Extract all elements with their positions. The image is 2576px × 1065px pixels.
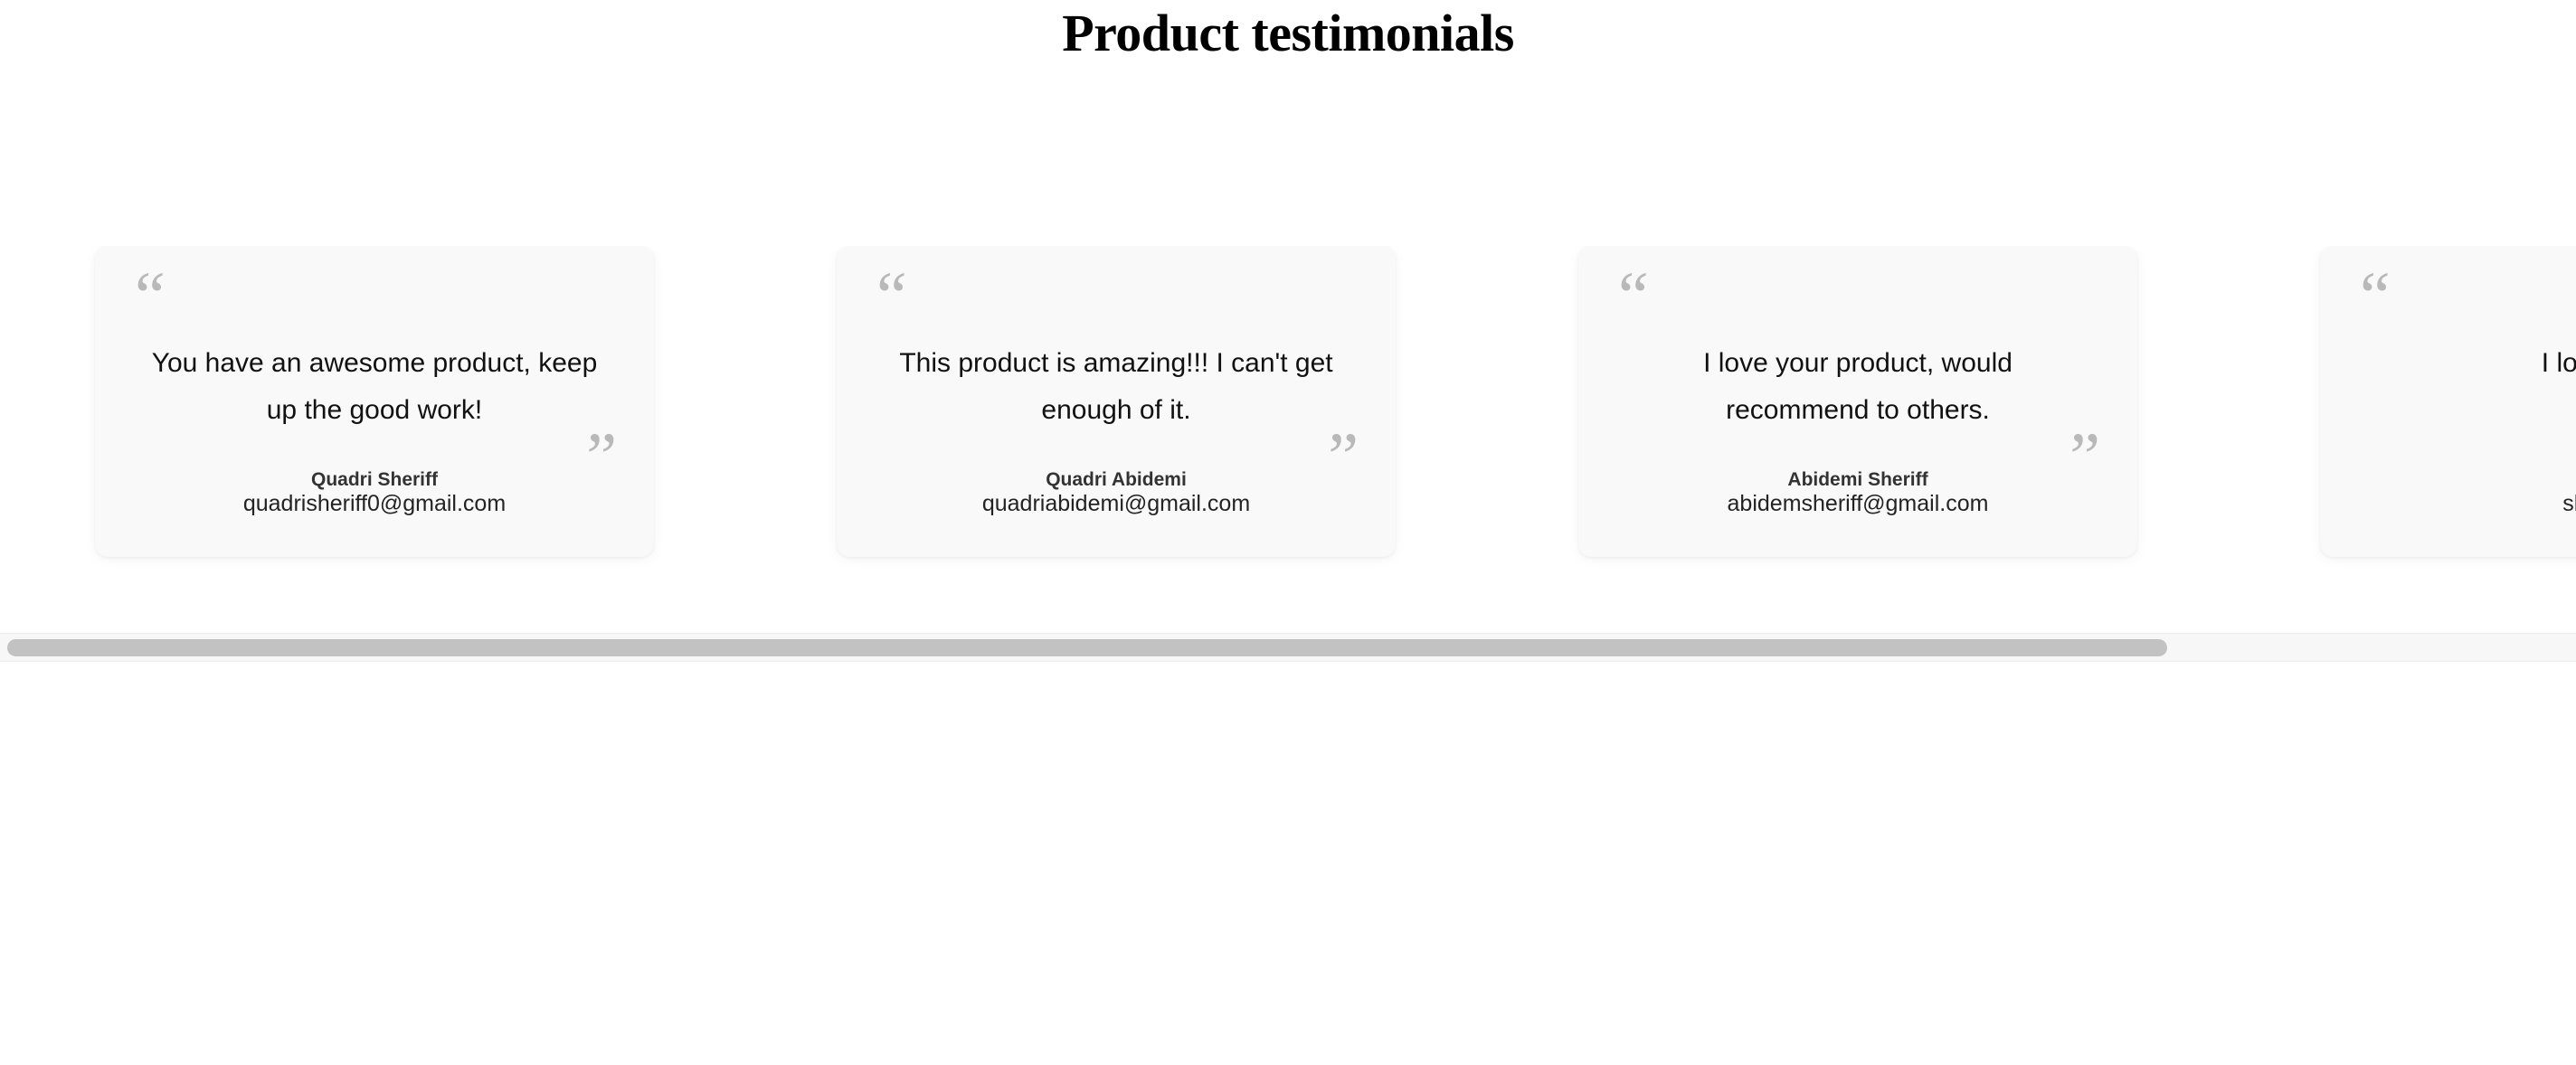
quote-close-icon: ” <box>586 423 618 492</box>
author-name: Sh <box>2358 468 2576 491</box>
testimonial-author: Sh sheriffo <box>2358 468 2576 533</box>
testimonials-carousel[interactable]: “ ” You have an awesome product, keep up… <box>0 246 2576 633</box>
page-title: Product testimonials <box>0 0 2576 56</box>
testimonial-card[interactable]: “ ” This product is amazing!!! I can't g… <box>837 246 1396 557</box>
author-email: abidemsheriff@gmail.com <box>1616 491 2099 517</box>
testimonial-quote: This product is amazing!!! I can't get e… <box>875 340 1358 434</box>
author-name: Quadri Abidemi <box>875 468 1358 491</box>
testimonial-card[interactable]: “ ” I love your product, would recommend… <box>1578 246 2137 557</box>
author-name: Abidemi Sheriff <box>1616 468 2099 491</box>
testimonial-author: Quadri Sheriff quadrisheriff0@gmail.com <box>133 468 616 533</box>
page-empty-area <box>0 663 2576 1065</box>
testimonials-track: “ ” You have an awesome product, keep up… <box>0 246 2576 557</box>
author-email: quadriabidemi@gmail.com <box>875 491 1358 517</box>
author-name: Quadri Sheriff <box>133 468 616 491</box>
quote-open-icon: “ <box>876 262 908 331</box>
testimonial-quote: You have an awesome product, keep up the… <box>133 340 616 434</box>
quote-open-icon: “ <box>2360 262 2391 331</box>
author-email: quadrisheriff0@gmail.com <box>133 491 616 517</box>
author-email: sheriffo <box>2358 491 2576 517</box>
testimonial-quote: I love your product, would recommend to … <box>1616 340 2099 434</box>
testimonial-quote: I love you <box>2358 340 2576 434</box>
quote-close-icon: ” <box>1328 423 1359 492</box>
testimonial-author: Quadri Abidemi quadriabidemi@gmail.com <box>875 468 1358 533</box>
testimonials-page: Product testimonials “ ” You have an awe… <box>0 0 2576 1065</box>
horizontal-scrollbar-track[interactable] <box>0 633 2576 662</box>
testimonial-card[interactable]: “ ” I love you Sh sheriffo <box>2320 246 2576 557</box>
quote-close-icon: ” <box>2069 423 2101 492</box>
testimonial-author: Abidemi Sheriff abidemsheriff@gmail.com <box>1616 468 2099 533</box>
quote-open-icon: “ <box>1618 262 1650 331</box>
testimonial-card[interactable]: “ ” You have an awesome product, keep up… <box>95 246 654 557</box>
horizontal-scrollbar-thumb[interactable] <box>7 639 2167 656</box>
quote-open-icon: “ <box>135 262 166 331</box>
